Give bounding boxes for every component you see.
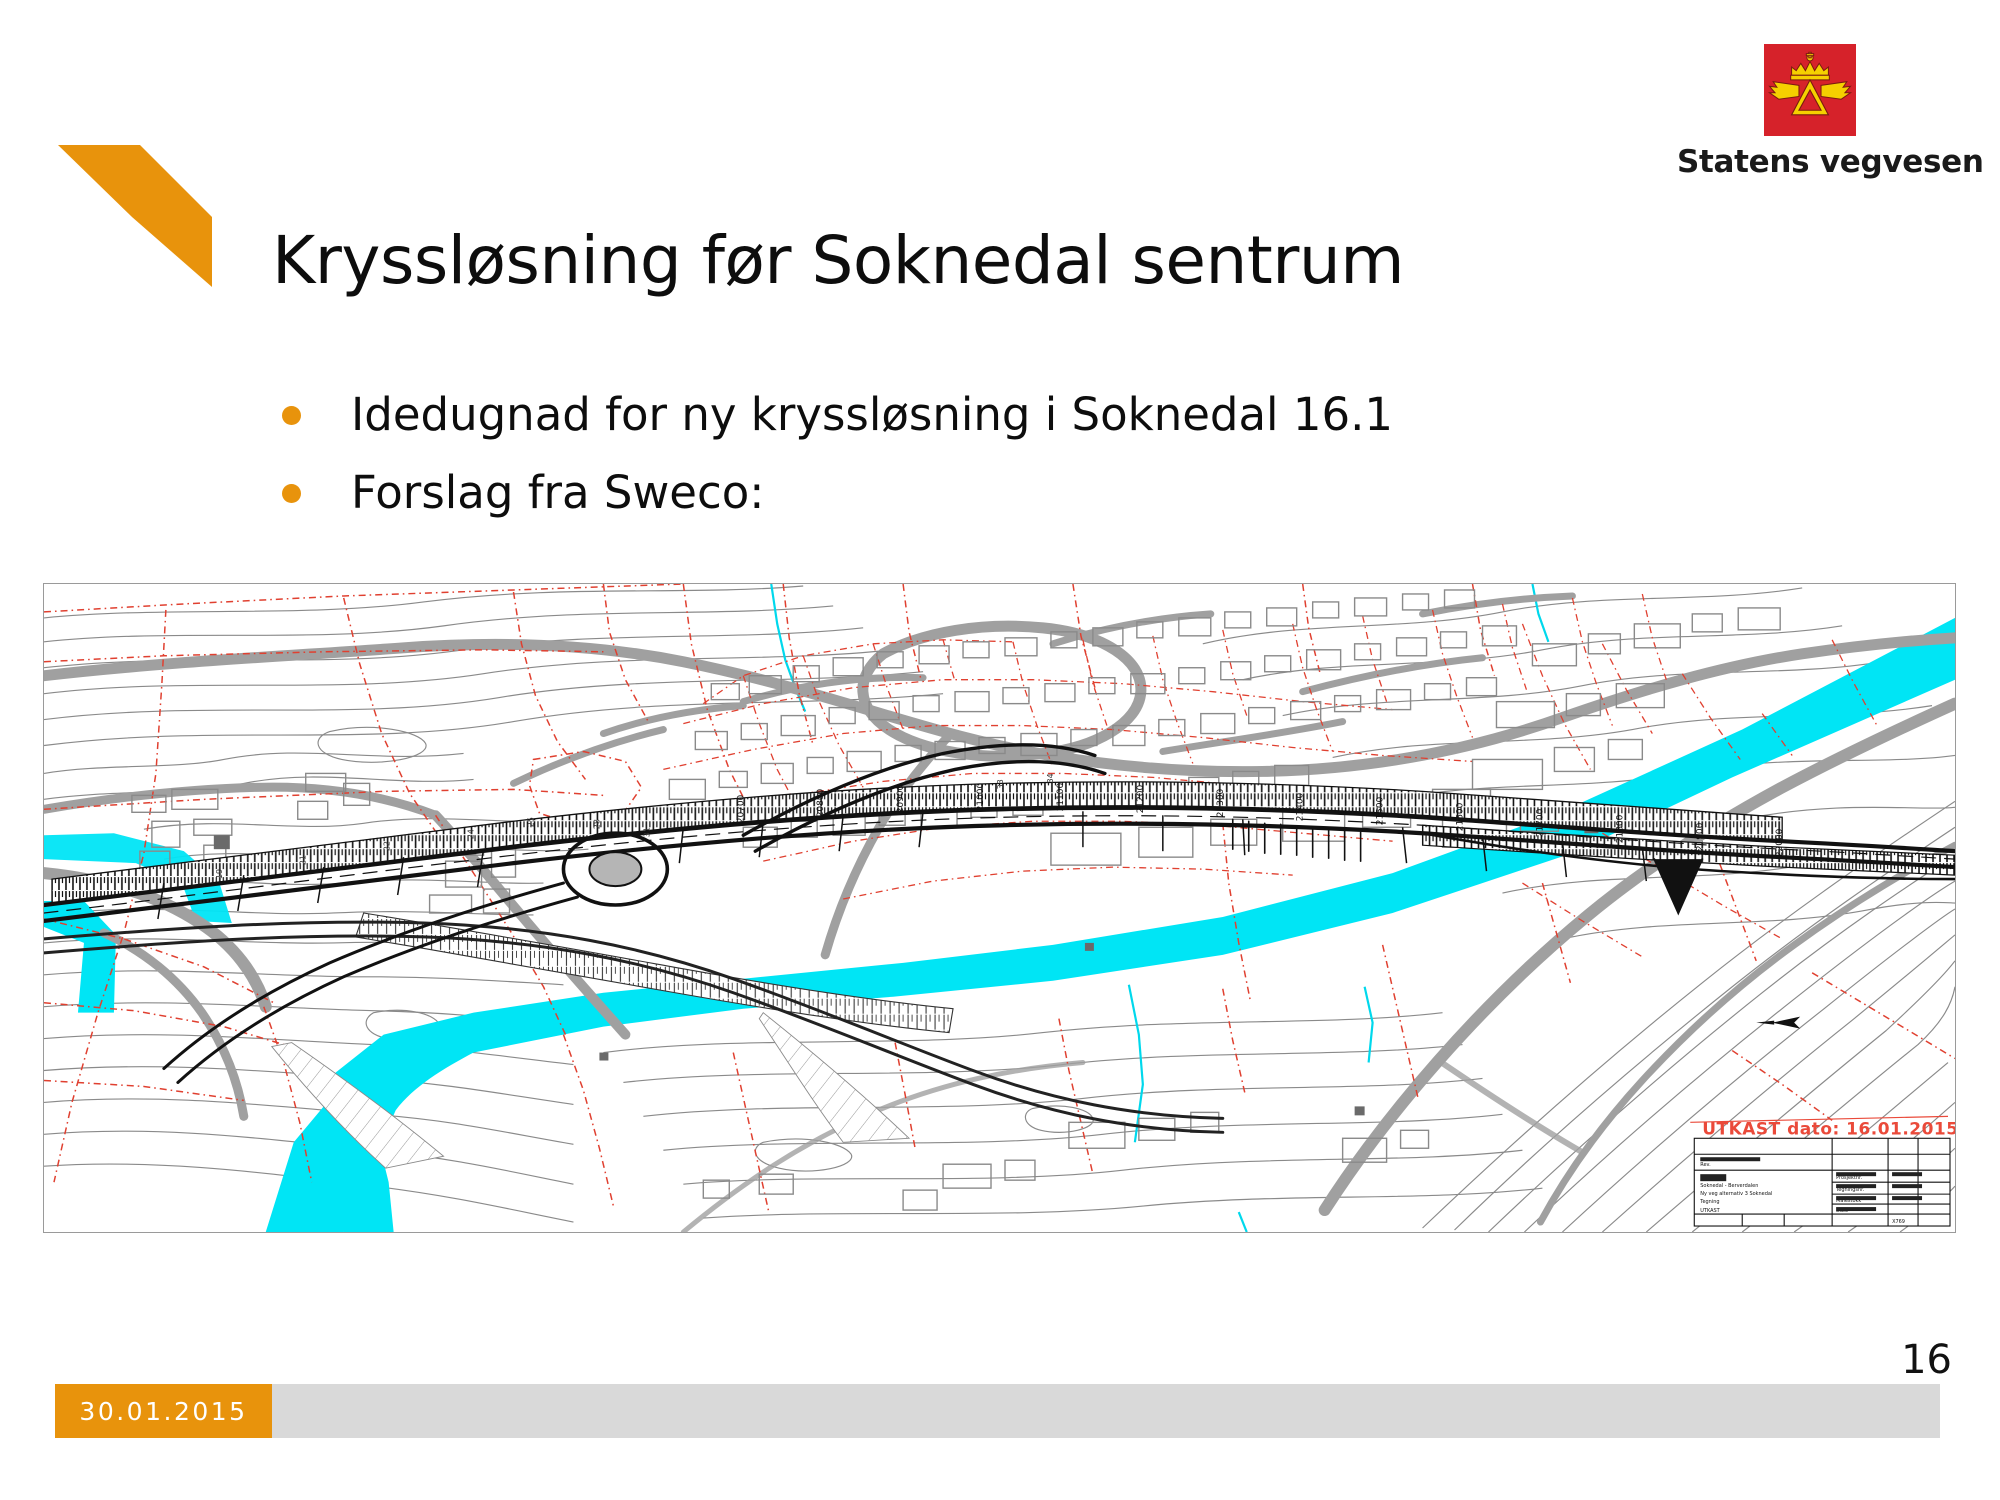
chainage-label: 21200 [1136, 784, 1146, 813]
chainage-label: 20900 [896, 784, 906, 813]
chainage-label: 21500 [1376, 796, 1386, 825]
svg-text:28: 28 [592, 819, 601, 829]
svg-text:22: 22 [383, 841, 392, 851]
chainage-label: 22000 [1775, 828, 1785, 857]
bullet-list: Idedugnad for ny kryssløsning i Soknedal… [282, 386, 1782, 541]
bullet-dot-icon [282, 484, 301, 503]
decorative-wedge [50, 135, 220, 290]
chainage-label: 21900 [1695, 822, 1705, 851]
titleblock-drawing-number: X769 [1892, 1219, 1905, 1225]
bullet-dot-icon [282, 406, 301, 425]
page-title: Kryssløsning før Soknedal sentrum [272, 222, 1404, 299]
titleblock-status: UTKAST [1700, 1208, 1720, 1214]
bullet-text: Idedugnad for ny kryssløsning i Soknedal… [351, 386, 1393, 444]
chainage-label: 21800 [1615, 814, 1625, 843]
svg-text:31: 31 [642, 827, 651, 837]
titleblock-row: Rev. [1700, 1162, 1711, 1168]
chainage-label: 21400 [1296, 792, 1306, 821]
svg-text:33: 33 [996, 779, 1005, 789]
titleblock-project-1: Soknedal - Berverdalen [1700, 1183, 1758, 1189]
list-item: Forslag fra Sweco: [282, 464, 1782, 522]
bullet-text: Forslag fra Sweco: [351, 464, 764, 522]
titleblock-project-3: Tegning [1699, 1199, 1719, 1205]
svg-text:19: 19 [215, 869, 224, 879]
footer-date: 30.01.2015 [55, 1384, 272, 1438]
brand-logo: Statens vegvesen [1677, 44, 1942, 180]
chainage-label: 21300 [1216, 788, 1226, 817]
chainage-label: 20700 [736, 794, 746, 823]
chainage-label: 21000 [976, 783, 986, 812]
chainage-label: 21600 [1456, 802, 1466, 831]
chainage-label: 20800 [816, 788, 826, 817]
page-number: 16 [1901, 1337, 1952, 1383]
svg-text:24: 24 [467, 829, 476, 839]
list-item: Idedugnad for ny kryssløsning i Soknedal… [282, 386, 1782, 444]
titleblock-project-2: Ny veg alternativ 3 Soknedal [1700, 1191, 1772, 1197]
svg-text:25: 25 [526, 817, 535, 827]
svg-text:21: 21 [299, 855, 308, 865]
chainage-label: 21100 [1056, 783, 1066, 812]
chainage-label: 21700 [1535, 808, 1545, 837]
drawing-titleblock: Rev. Soknedal - Berverdalen Ny veg alter… [1694, 1138, 1950, 1226]
map-drawing: 20700 20800 20900 21000 21100 21200 2130… [43, 583, 1956, 1233]
logo-wordmark: Statens vegvesen [1677, 144, 1942, 180]
footer-bar [55, 1384, 1940, 1438]
svg-text:34: 34 [1046, 773, 1055, 783]
map-svg: 20700 20800 20900 21000 21100 21200 2130… [44, 584, 1955, 1232]
statens-vegvesen-emblem-icon [1764, 44, 1856, 136]
draft-stamp: UTKAST dato: 16.01.2015 [1690, 1116, 1955, 1138]
